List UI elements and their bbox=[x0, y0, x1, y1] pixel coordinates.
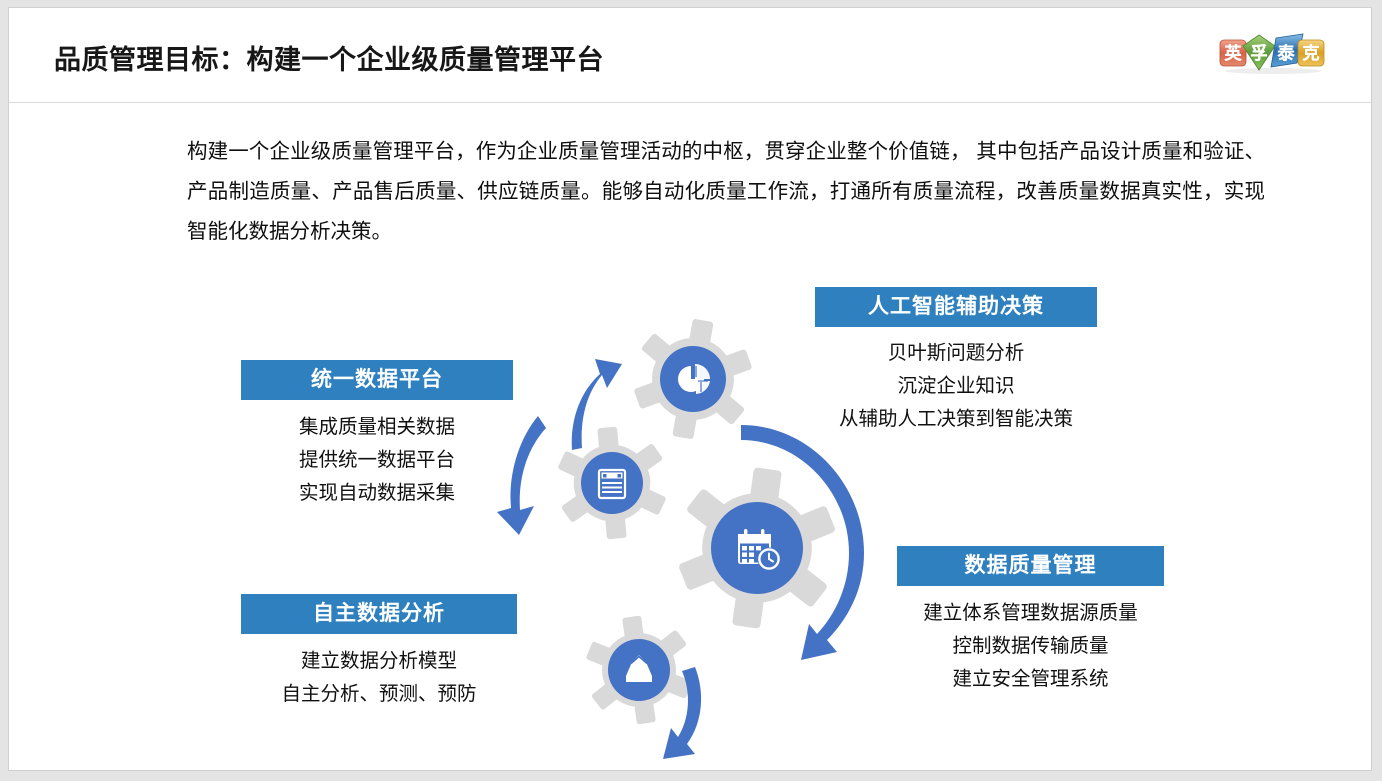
list-item: 贝叶斯问题分析 bbox=[815, 337, 1097, 370]
block-title: 统一数据平台 bbox=[241, 360, 513, 400]
block-title: 自主数据分析 bbox=[241, 594, 517, 634]
block-item-list: 贝叶斯问题分析 沉淀企业知识 从辅助人工决策到智能决策 bbox=[815, 337, 1097, 436]
block-data-quality-management: 数据质量管理 建立体系管理数据源质量 控制数据传输质量 建立安全管理系统 bbox=[897, 546, 1164, 696]
block-title: 数据质量管理 bbox=[897, 546, 1164, 586]
list-item: 从辅助人工决策到智能决策 bbox=[815, 403, 1097, 436]
list-item: 沉淀企业知识 bbox=[815, 370, 1097, 403]
screenshot-root: 品质管理目标：构建一个企业级质量管理平台 bbox=[0, 0, 1382, 781]
list-item: 建立安全管理系统 bbox=[897, 663, 1164, 696]
block-item-list: 建立体系管理数据源质量 控制数据传输质量 建立安全管理系统 bbox=[897, 597, 1164, 696]
block-title: 人工智能辅助决策 bbox=[815, 287, 1097, 327]
list-item: 自主分析、预测、预防 bbox=[241, 678, 517, 711]
gear-schedule bbox=[671, 459, 844, 638]
intro-paragraph: 构建一个企业级质量管理平台，作为企业质量管理活动的中枢，贯穿企业整个价值链， 其… bbox=[187, 132, 1265, 252]
slide-surface: 品质管理目标：构建一个企业级质量管理平台 bbox=[8, 7, 1372, 771]
list-item: 实现自动数据采集 bbox=[241, 477, 513, 510]
list-item: 控制数据传输质量 bbox=[897, 630, 1164, 663]
list-item: 集成质量相关数据 bbox=[241, 411, 513, 444]
gear-inbox bbox=[581, 610, 698, 731]
list-item: 提供统一数据平台 bbox=[241, 444, 513, 477]
logo-char-1: 孚 bbox=[1251, 43, 1268, 63]
company-logo: 英 孚 泰 克 bbox=[1217, 29, 1329, 75]
logo-char-3: 克 bbox=[1303, 43, 1320, 63]
list-item: 建立数据分析模型 bbox=[241, 645, 517, 678]
block-item-list: 集成质量相关数据 提供统一数据平台 实现自动数据采集 bbox=[241, 411, 513, 510]
page-title: 品质管理目标：构建一个企业级质量管理平台 bbox=[54, 38, 604, 77]
gear-document bbox=[554, 423, 670, 543]
logo-char-0: 英 bbox=[1225, 43, 1243, 63]
gear-pie bbox=[627, 311, 760, 448]
logo-char-2: 泰 bbox=[1278, 43, 1296, 63]
block-ai-assisted-decision: 人工智能辅助决策 贝叶斯问题分析 沉淀企业知识 从辅助人工决策到智能决策 bbox=[815, 287, 1097, 436]
logo-icon: 英 孚 泰 克 bbox=[1217, 29, 1329, 75]
block-item-list: 建立数据分析模型 自主分析、预测、预防 bbox=[241, 645, 517, 711]
block-autonomous-data-analysis: 自主数据分析 建立数据分析模型 自主分析、预测、预防 bbox=[241, 594, 517, 711]
list-item: 建立体系管理数据源质量 bbox=[897, 597, 1164, 630]
block-unified-data-platform: 统一数据平台 集成质量相关数据 提供统一数据平台 实现自动数据采集 bbox=[241, 360, 513, 510]
slide-header: 品质管理目标：构建一个企业级质量管理平台 bbox=[9, 8, 1371, 103]
